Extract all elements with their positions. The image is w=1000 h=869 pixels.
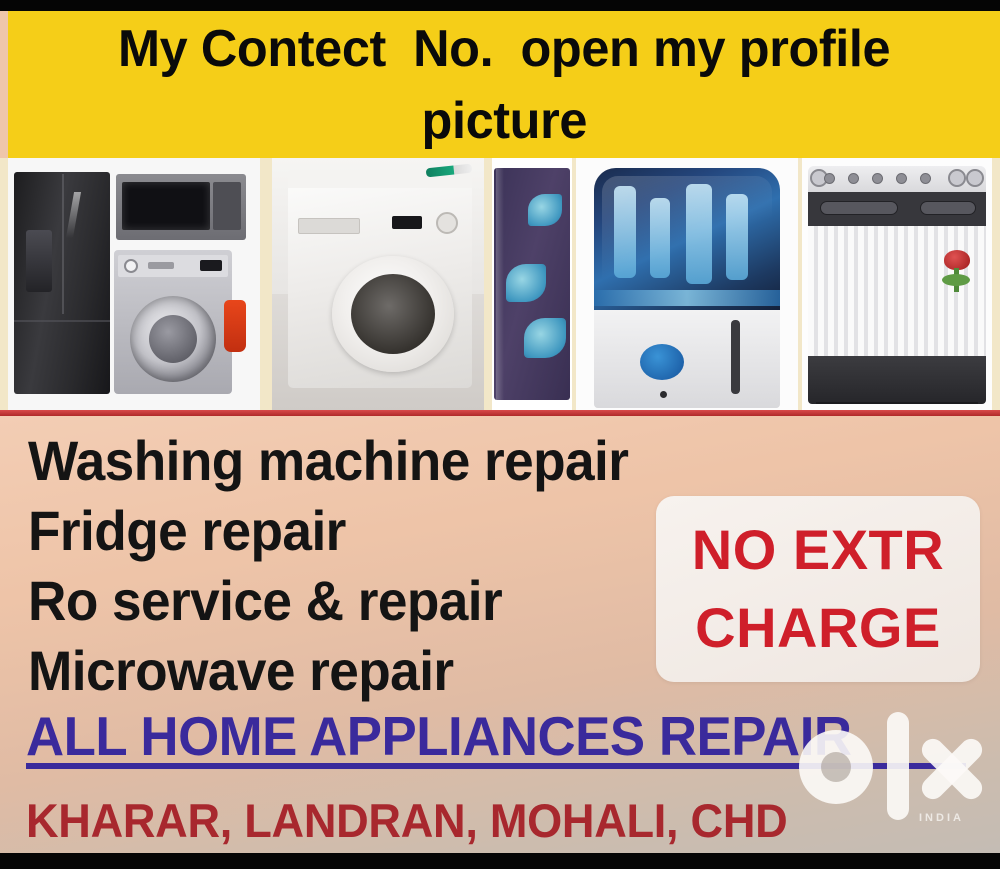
- ro-water-purifier-photo: [576, 158, 798, 410]
- service-item: Fridge repair: [28, 496, 628, 566]
- all-appliances-repair-text: ALL HOME APPLIANCES REPAIR: [26, 705, 852, 767]
- red-object-graphic: [224, 300, 246, 352]
- front-load-washer-graphic: [114, 250, 232, 394]
- microwave-graphic: [116, 174, 246, 240]
- services-panel: Washing machine repair Fridge repair Ro …: [0, 416, 1000, 853]
- front-load-washing-machine-photo: [272, 158, 484, 410]
- services-list: Washing machine repair Fridge repair Ro …: [28, 426, 660, 706]
- refrigerator-graphic: [14, 172, 110, 394]
- product-photo-strip: [0, 158, 1000, 410]
- service-item: Ro service & repair: [28, 566, 628, 636]
- advertisement-poster: My Contect No. open my profile picture: [0, 0, 1000, 869]
- all-appliances-repair-underline: [26, 763, 966, 769]
- badge-line-2: CHARGE: [695, 589, 941, 667]
- floral-fridge-graphic: [494, 168, 570, 400]
- no-extra-charge-badge: NO EXTR CHARGE: [656, 496, 980, 682]
- headline-line-1: My Contect No. open my profile: [118, 14, 890, 85]
- ro-purifier-graphic: [594, 168, 780, 408]
- service-area-cities-text: KHARAR, LANDRAN, MOHALI, CHD: [26, 793, 787, 849]
- bottom-letterbox-bar: [0, 853, 1000, 869]
- floral-refrigerator-photo: [492, 158, 572, 410]
- semi-automatic-washing-machine-photo: [802, 158, 992, 410]
- headline-banner: My Contect No. open my profile picture: [8, 11, 1000, 158]
- refrigerator-microwave-washing-machine-photo: [8, 158, 260, 410]
- white-washer-graphic: [288, 182, 472, 388]
- top-letterbox-bar: [0, 0, 1000, 11]
- headline-line-2: picture: [421, 86, 586, 157]
- service-item: Washing machine repair: [28, 426, 628, 496]
- badge-line-1: NO EXTR: [692, 511, 944, 589]
- service-item: Microwave repair: [28, 636, 628, 706]
- twin-tub-washer-graphic: [808, 166, 986, 404]
